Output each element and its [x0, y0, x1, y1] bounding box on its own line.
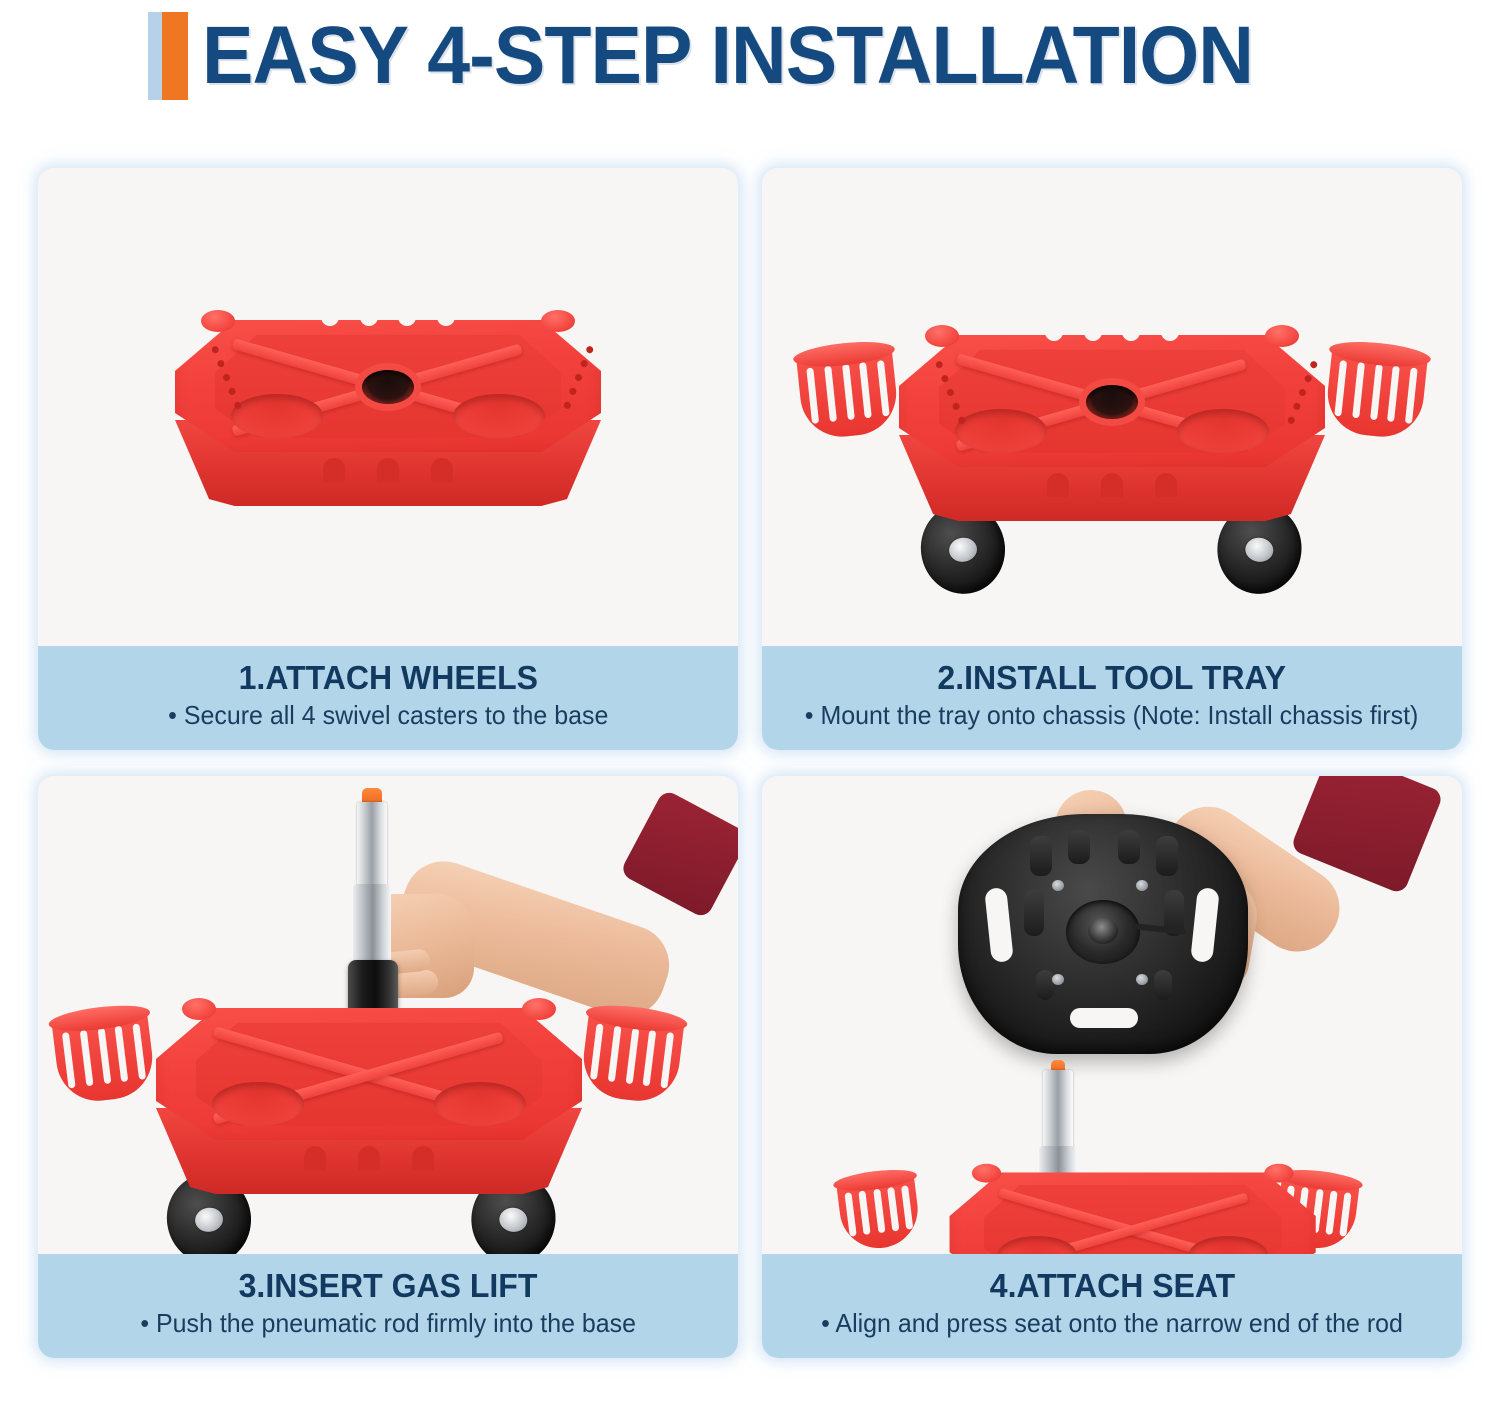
seat-screw	[1052, 880, 1064, 891]
tray-rear-notches	[1045, 325, 1179, 341]
step-2-subtitle: • Mount the tray onto chassis (Note: Ins…	[805, 698, 1419, 732]
seat-rib	[1118, 830, 1140, 864]
tray-knob-right	[1265, 325, 1299, 347]
seat-rib	[1030, 836, 1052, 876]
slat	[844, 1192, 856, 1237]
notch	[323, 458, 345, 482]
title-accent-bars	[148, 12, 188, 100]
slat	[842, 364, 855, 420]
basket-slats	[844, 1185, 913, 1236]
seat-socket-icon	[1088, 918, 1118, 944]
seat-slot	[984, 887, 1014, 963]
seat-rib	[1156, 836, 1178, 876]
gas-lift-thin-rod	[1043, 1070, 1073, 1150]
accent-bar-blue-icon	[148, 12, 162, 100]
step-1-subtitle: • Secure all 4 swivel casters to the bas…	[168, 698, 608, 732]
base-center-hole	[362, 370, 414, 404]
notch	[321, 310, 339, 326]
scene-insert-gas-lift	[38, 776, 738, 1254]
shirt-sleeve	[619, 789, 738, 920]
seat-handle-slot	[1070, 1008, 1138, 1028]
slat	[1325, 1190, 1337, 1235]
gas-lift-thick-rod	[353, 884, 391, 966]
slat	[607, 1026, 621, 1082]
hole	[1309, 360, 1318, 369]
seat-rib	[1154, 970, 1172, 1000]
seat-rib	[1068, 830, 1090, 864]
base-knob-right	[541, 310, 575, 332]
hole	[585, 345, 594, 354]
tray-front-notches	[1047, 473, 1177, 497]
notch	[1122, 325, 1140, 341]
notch	[304, 1146, 326, 1170]
tray-knob-left	[925, 325, 959, 347]
step-2-image	[762, 168, 1462, 646]
base-cup-recess-left	[231, 394, 323, 438]
page-title: EASY 4-STEP INSTALLATION	[202, 12, 1253, 100]
step-4-title: 4.ATTACH SEAT	[989, 1266, 1234, 1306]
seat-rib	[1024, 890, 1044, 936]
notch	[1045, 325, 1063, 341]
base-rear-notches	[321, 310, 455, 326]
header: EASY 4-STEP INSTALLATION	[0, 0, 1500, 112]
slat	[873, 1189, 885, 1234]
notch	[1084, 325, 1102, 341]
slat	[806, 367, 819, 423]
slat	[115, 1026, 129, 1082]
seat-slot	[1190, 887, 1220, 963]
slat	[79, 1030, 93, 1086]
base-cup-recess-left	[212, 1082, 304, 1126]
base-knob-left	[182, 998, 216, 1020]
base-cup-recess-right	[434, 1082, 526, 1126]
slat	[901, 1185, 913, 1230]
step-1-image	[38, 168, 738, 646]
seat-screw	[1052, 974, 1064, 985]
notch	[377, 458, 399, 482]
notch	[1155, 473, 1177, 497]
step-3-caption: 3.INSERT GAS LIFT • Push the pneumatic r…	[38, 1254, 738, 1358]
red-base	[931, 1162, 1258, 1254]
side-basket-left	[836, 1172, 922, 1253]
scene-base-top-view	[38, 168, 738, 646]
slat	[660, 1032, 674, 1088]
step-2-title: 2.INSTALL TOOL TRAY	[938, 658, 1287, 698]
seat-screw	[1136, 880, 1148, 891]
tray-cup-recess-right	[1177, 409, 1269, 453]
black-seat-pan	[958, 814, 1248, 1054]
step-card-3: 3.INSERT GAS LIFT • Push the pneumatic r…	[38, 776, 738, 1358]
base-knob-left	[201, 310, 235, 332]
step-card-2: 2.INSTALL TOOL TRAY • Mount the tray ont…	[762, 168, 1462, 750]
notch	[1161, 325, 1179, 341]
base-knob-right	[1264, 1164, 1293, 1183]
slat	[97, 1028, 111, 1084]
base-front-notches	[323, 458, 453, 482]
slat	[859, 1190, 871, 1235]
slat	[643, 1030, 657, 1086]
notch	[431, 458, 453, 482]
steps-grid: 1.ATTACH WHEELS • Secure all 4 swivel ca…	[38, 168, 1462, 1358]
notch	[398, 310, 416, 326]
step-4-caption: 4.ATTACH SEAT • Align and press seat ont…	[762, 1254, 1462, 1358]
notch	[358, 1146, 380, 1170]
slat	[1387, 366, 1400, 422]
slat	[1352, 362, 1365, 418]
base-front-notches	[304, 1146, 434, 1170]
slat	[62, 1032, 76, 1088]
red-tray	[877, 323, 1347, 538]
base-knob-left	[972, 1164, 1001, 1183]
notch	[412, 1146, 434, 1170]
notch	[437, 310, 455, 326]
step-card-4: 4.ATTACH SEAT • Align and press seat ont…	[762, 776, 1462, 1358]
step-1-title: 1.ATTACH WHEELS	[238, 658, 537, 698]
slat	[625, 1028, 639, 1084]
red-base	[134, 996, 604, 1211]
step-3-title: 3.INSERT GAS LIFT	[239, 1266, 538, 1306]
notch	[1047, 473, 1069, 497]
notch	[1101, 473, 1123, 497]
slat	[1339, 1192, 1351, 1237]
step-1-caption: 1.ATTACH WHEELS • Secure all 4 swivel ca…	[38, 646, 738, 750]
slat	[887, 1187, 899, 1232]
tray-cup-recess-left	[955, 409, 1047, 453]
red-base	[153, 308, 623, 523]
tray-center-hole	[1086, 385, 1138, 419]
base-cup-recess-right	[453, 394, 545, 438]
scene-attach-seat	[762, 776, 1462, 1254]
gas-lift-thin-rod	[357, 802, 387, 888]
scene-tray-with-casters	[762, 168, 1462, 646]
notch	[360, 310, 378, 326]
slat	[1370, 364, 1383, 420]
seat-rib	[1036, 970, 1054, 1000]
slat	[824, 366, 837, 422]
step-2-caption: 2.INSTALL TOOL TRAY • Mount the tray ont…	[762, 646, 1462, 750]
step-3-subtitle: • Push the pneumatic rod firmly into the…	[140, 1306, 636, 1340]
slat	[1405, 367, 1418, 423]
step-4-subtitle: • Align and press seat onto the narrow e…	[821, 1306, 1403, 1340]
slat	[859, 362, 872, 418]
step-4-image	[762, 776, 1462, 1254]
accent-bar-orange-icon	[162, 12, 188, 100]
step-card-1: 1.ATTACH WHEELS • Secure all 4 swivel ca…	[38, 168, 738, 750]
seat-screw	[1136, 974, 1148, 985]
base-knob-right	[522, 998, 556, 1020]
installation-infographic: EASY 4-STEP INSTALLATION	[0, 0, 1500, 1420]
step-3-image	[38, 776, 738, 1254]
